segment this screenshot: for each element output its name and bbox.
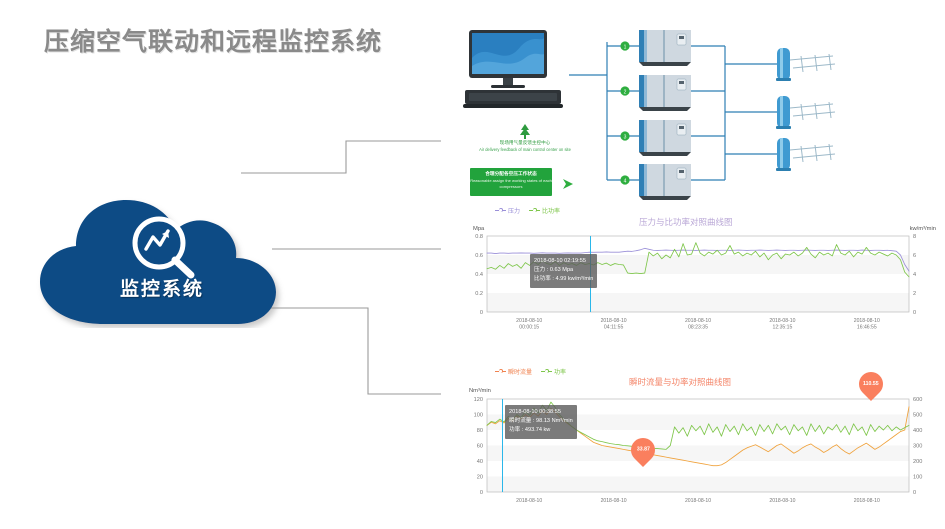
chart1-tooltip-line2: 比功率 : 4.99 kw/m³/min xyxy=(534,275,593,284)
y-tick: 0.8 xyxy=(475,234,483,240)
y2-tick: 4 xyxy=(913,272,916,278)
y2-tick: 0 xyxy=(913,310,916,316)
x-tick: 08:23:35 xyxy=(688,325,708,331)
y2-tick: 100 xyxy=(913,475,922,481)
chart1-plot: 0.80.60.40.20864202018-08-1000:00:152018… xyxy=(443,200,938,340)
system-topology-diagram: 现场用气量反馈主控中心 Air delivery feedback of mai… xyxy=(443,20,938,200)
y2-tick: 6 xyxy=(913,253,916,259)
y-tick: 0 xyxy=(480,310,483,316)
y-tick: 20 xyxy=(477,475,483,481)
y2-tick: 500 xyxy=(913,413,922,419)
flow-power-chart: 瞬时流量功率 瞬时流量与功率对照曲线图 Nm³/min 120100806040… xyxy=(443,363,938,529)
x-tick: 04:11:55 xyxy=(604,325,624,331)
chart2-tooltip-line1: 瞬时流量 : 98.13 Nm³/min xyxy=(509,417,573,426)
x-tick: 16:46:55 xyxy=(857,325,877,331)
chart2-tooltip-time: 2018-08-10 00:38:55 xyxy=(509,408,573,417)
svg-text:3: 3 xyxy=(624,134,627,140)
y-tick: 80 xyxy=(477,428,483,434)
x-tick: 2018-08-10 xyxy=(854,498,880,504)
chart1-tooltip-line1: 压力 : 0.63 Mpa xyxy=(534,266,593,275)
x-tick: 00:00:15 xyxy=(519,325,539,331)
svg-text:4: 4 xyxy=(624,178,627,184)
x-tick: 2018-08-10 xyxy=(685,498,711,504)
chart2-marker-low-label: 33.87 xyxy=(637,447,650,453)
y-tick: 0.6 xyxy=(475,253,483,259)
svg-text:1: 1 xyxy=(624,44,627,50)
y-tick: 40 xyxy=(477,459,483,465)
chart2-cursor-line xyxy=(502,399,503,492)
chart2-marker-high-label: 110.55 xyxy=(863,381,879,387)
y-tick: 0.2 xyxy=(475,291,483,297)
x-tick: 2018-08-10 xyxy=(685,318,711,324)
x-tick: 2018-08-10 xyxy=(516,498,542,504)
x-tick: 2018-08-10 xyxy=(854,318,880,324)
y2-tick: 0 xyxy=(913,490,916,496)
y-tick: 120 xyxy=(474,397,483,403)
x-tick: 2018-08-10 xyxy=(769,498,795,504)
y-tick: 100 xyxy=(474,413,483,419)
x-tick: 2018-08-10 xyxy=(601,498,627,504)
chart1-tooltip-time: 2018-08-10 02:19:55 xyxy=(534,257,593,266)
y-tick: 0.4 xyxy=(475,272,483,278)
x-tick: 2018-08-10 xyxy=(601,318,627,324)
monitoring-cloud[interactable]: 监控系统 xyxy=(32,196,292,328)
chart2-tooltip-line2: 功率 : 493.74 kw xyxy=(509,426,573,435)
pressure-power-chart: 压力比功率 压力与比功率对照曲线图 Mpa kw/m³/min 0.80.60.… xyxy=(443,200,938,340)
x-tick: 2018-08-10 xyxy=(516,318,542,324)
y2-tick: 200 xyxy=(913,459,922,465)
x-tick: 2018-08-10 xyxy=(769,318,795,324)
y2-tick: 400 xyxy=(913,428,922,434)
y2-tick: 600 xyxy=(913,397,922,403)
x-tick: 12:35:15 xyxy=(772,325,792,331)
compressor-network: 1 2 3 4 xyxy=(443,20,938,200)
y-tick: 0 xyxy=(480,490,483,496)
svg-text:2: 2 xyxy=(624,89,627,95)
cloud-label: 监控系统 xyxy=(32,274,292,301)
chart1-tooltip: 2018-08-10 02:19:55 压力 : 0.63 Mpa 比功率 : … xyxy=(530,254,597,288)
y2-tick: 300 xyxy=(913,444,922,450)
chart2-tooltip: 2018-08-10 00:38:55 瞬时流量 : 98.13 Nm³/min… xyxy=(505,405,577,439)
y2-tick: 8 xyxy=(913,234,916,240)
y-tick: 60 xyxy=(477,444,483,450)
y2-tick: 2 xyxy=(913,291,916,297)
page-title: 压缩空气联动和远程监控系统 xyxy=(44,22,382,58)
